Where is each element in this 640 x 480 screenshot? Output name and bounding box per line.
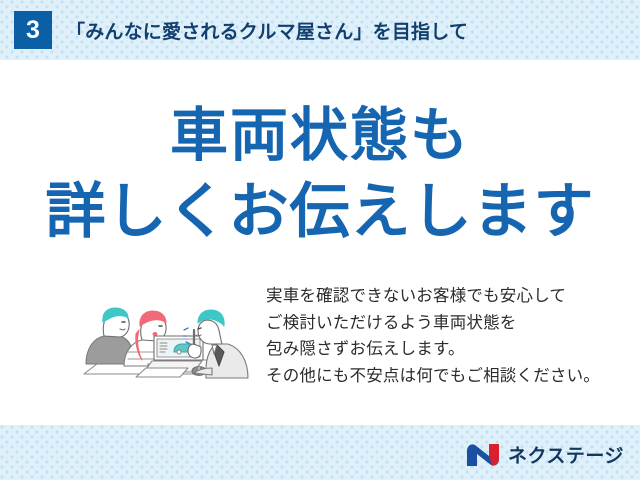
n-logo-icon <box>466 443 500 467</box>
section-number-badge: 3 <box>14 11 52 49</box>
headline-line-1: 車両状態も <box>0 104 640 166</box>
brand-name: ネクステージ <box>508 441 624 468</box>
headline-line-2: 詳しくお伝えします <box>0 180 640 244</box>
body-line-1: 実車を確認できないお客様でも安心して <box>266 283 626 310</box>
brand-logo: ネクステージ <box>466 441 624 468</box>
body-line-2: ご検討いただけるよう車両状態を <box>266 310 626 337</box>
consultation-illustration <box>62 282 254 394</box>
body-copy: 実車を確認できないお客様でも安心して ご検討いただけるよう車両状態を 包み隠さず… <box>266 283 626 389</box>
body-line-3: 包み隠さずお伝えします。 <box>266 336 626 363</box>
advertisement-page: 3 「みんなに愛されるクルマ屋さん」を目指して 車両状態も 詳しくお伝えします <box>0 0 640 480</box>
header: 3 「みんなに愛されるクルマ屋さん」を目指して <box>0 0 640 60</box>
header-title: 「みんなに愛されるクルマ屋さん」を目指して <box>66 17 468 44</box>
body-line-4: その他にも不安点は何でもご相談ください。 <box>266 363 626 390</box>
